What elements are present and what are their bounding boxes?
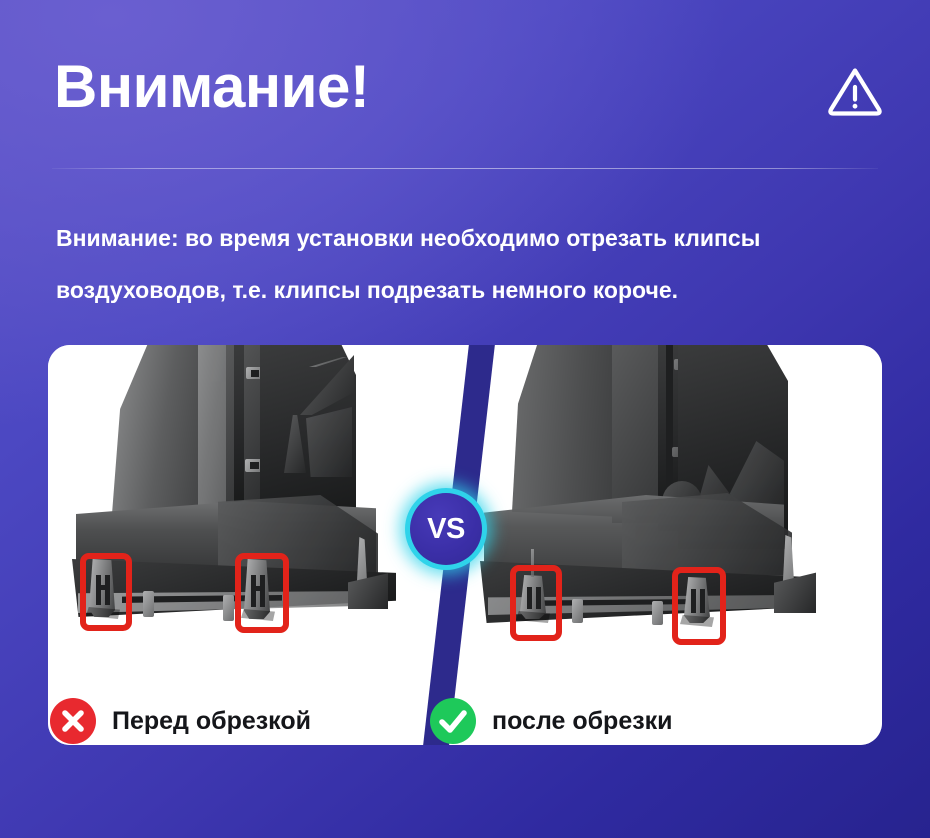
vs-badge: VS — [405, 488, 487, 570]
highlight-box-after-1 — [510, 565, 562, 641]
attention-banner: Внимание! Внимание: во время установки н… — [0, 0, 930, 838]
notice-line-2: воздуховодов, т.е. клипсы подрезать немн… — [56, 264, 886, 316]
label-row-after-cutting: после обрезки — [430, 698, 673, 744]
vs-badge-circle: VS — [410, 493, 482, 565]
highlight-box-after-2 — [672, 567, 726, 645]
notice-line-1: Внимание: во время установки необходимо … — [56, 212, 886, 264]
label-after-cutting: после обрезки — [492, 707, 673, 736]
label-row-before-cutting: Перед обрезкой — [50, 698, 311, 744]
warning-triangle-icon — [826, 62, 884, 120]
cross-icon — [50, 698, 96, 744]
photo-after-cutting — [462, 345, 882, 745]
banner-header: Внимание! — [0, 0, 930, 180]
check-icon — [430, 698, 476, 744]
highlight-box-before-1 — [80, 553, 132, 631]
header-divider — [52, 168, 878, 169]
vs-badge-label: VS — [427, 515, 465, 544]
label-before-cutting: Перед обрезкой — [112, 707, 311, 736]
notice-text-block: Внимание: во время установки необходимо … — [56, 212, 886, 316]
highlight-box-before-2 — [235, 553, 289, 633]
page-title: Внимание! — [54, 57, 369, 117]
